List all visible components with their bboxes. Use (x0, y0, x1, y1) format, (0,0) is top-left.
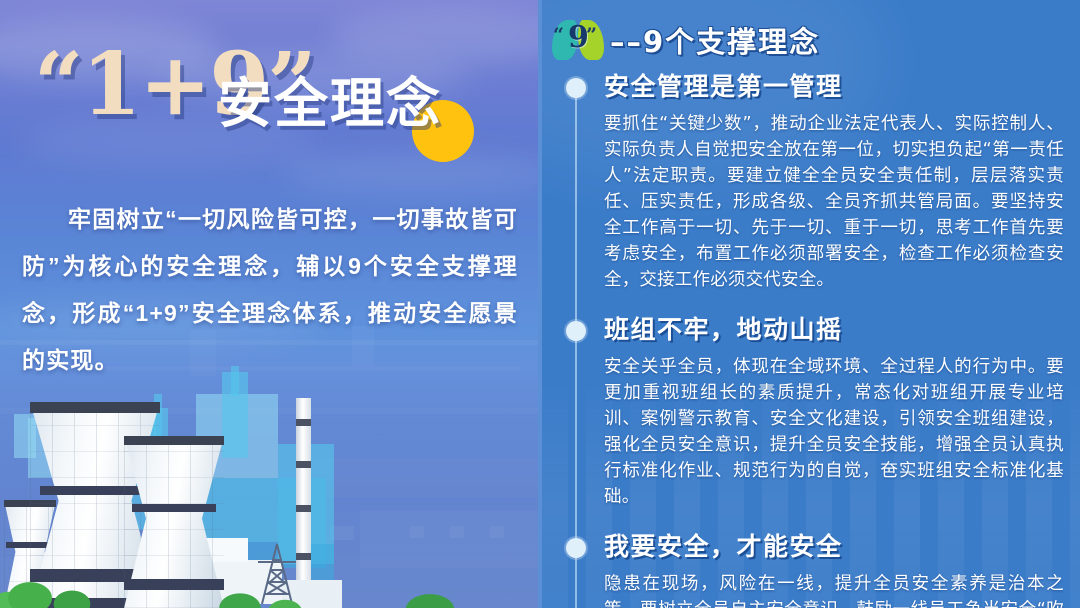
right-panel: “ ” 9 ––9个支撑理念 安全管理是第一管理 要抓住“关键少数”，推动企业法… (538, 0, 1080, 608)
concept-list: 安全管理是第一管理 要抓住“关键少数”，推动企业法定代表人、实际控制人、实际负责… (542, 72, 1080, 608)
list-item: 班组不牢，地动山摇 安全关乎全员，体现在全域环境、全过程人的行为中。要更加重视班… (542, 315, 1080, 510)
tree-decor (0, 538, 538, 608)
section-body: 隐患在现场，风险在一线，提升全员安全素养是治本之策。要树立全员自主安全意识，鼓励… (604, 571, 1064, 608)
hero-subtitle: 安全理念 (218, 76, 442, 130)
timeline-dot-icon (566, 321, 586, 341)
cloud-decor (280, 150, 538, 194)
left-panel: “1+9” 安全理念 牢固树立“一切风险皆可控，一切事故皆可防”为核心的安全理念… (0, 0, 538, 608)
right-panel-header: “ ” 9 ––9个支撑理念 (550, 18, 820, 62)
logo-number: 9 (568, 20, 589, 55)
section-title: 安全管理是第一管理 (604, 72, 1064, 102)
nine-leaf-logo-icon: “ ” 9 (550, 18, 606, 62)
quote-left-glyph: “ (553, 24, 564, 46)
section-body: 安全关乎全员，体现在全域环境、全过程人的行为中。要更加重视班组长的素质提升，常态… (604, 354, 1064, 510)
section-title: 我要安全，才能安全 (604, 532, 1064, 562)
timeline-dot-icon (566, 538, 586, 558)
section-title: 班组不牢，地动山摇 (604, 315, 1064, 345)
list-item: 我要安全，才能安全 隐患在现场，风险在一线，提升全员安全素养是治本之策。要树立全… (542, 532, 1080, 608)
right-panel-title: ––9个支撑理念 (610, 19, 820, 61)
poster-root: “1+9” 安全理念 牢固树立“一切风险皆可控，一切事故皆可防”为核心的安全理念… (0, 0, 1080, 608)
timeline-dot-icon (566, 78, 586, 98)
section-body: 要抓住“关键少数”，推动企业法定代表人、实际控制人、实际负责人自觉把安全放在第一… (604, 111, 1064, 293)
hero-body-text: 牢固树立“一切风险皆可控，一切事故皆可防”为核心的安全理念，辅以9个安全支撑理念… (22, 196, 518, 384)
list-item: 安全管理是第一管理 要抓住“关键少数”，推动企业法定代表人、实际控制人、实际负责… (542, 72, 1080, 293)
